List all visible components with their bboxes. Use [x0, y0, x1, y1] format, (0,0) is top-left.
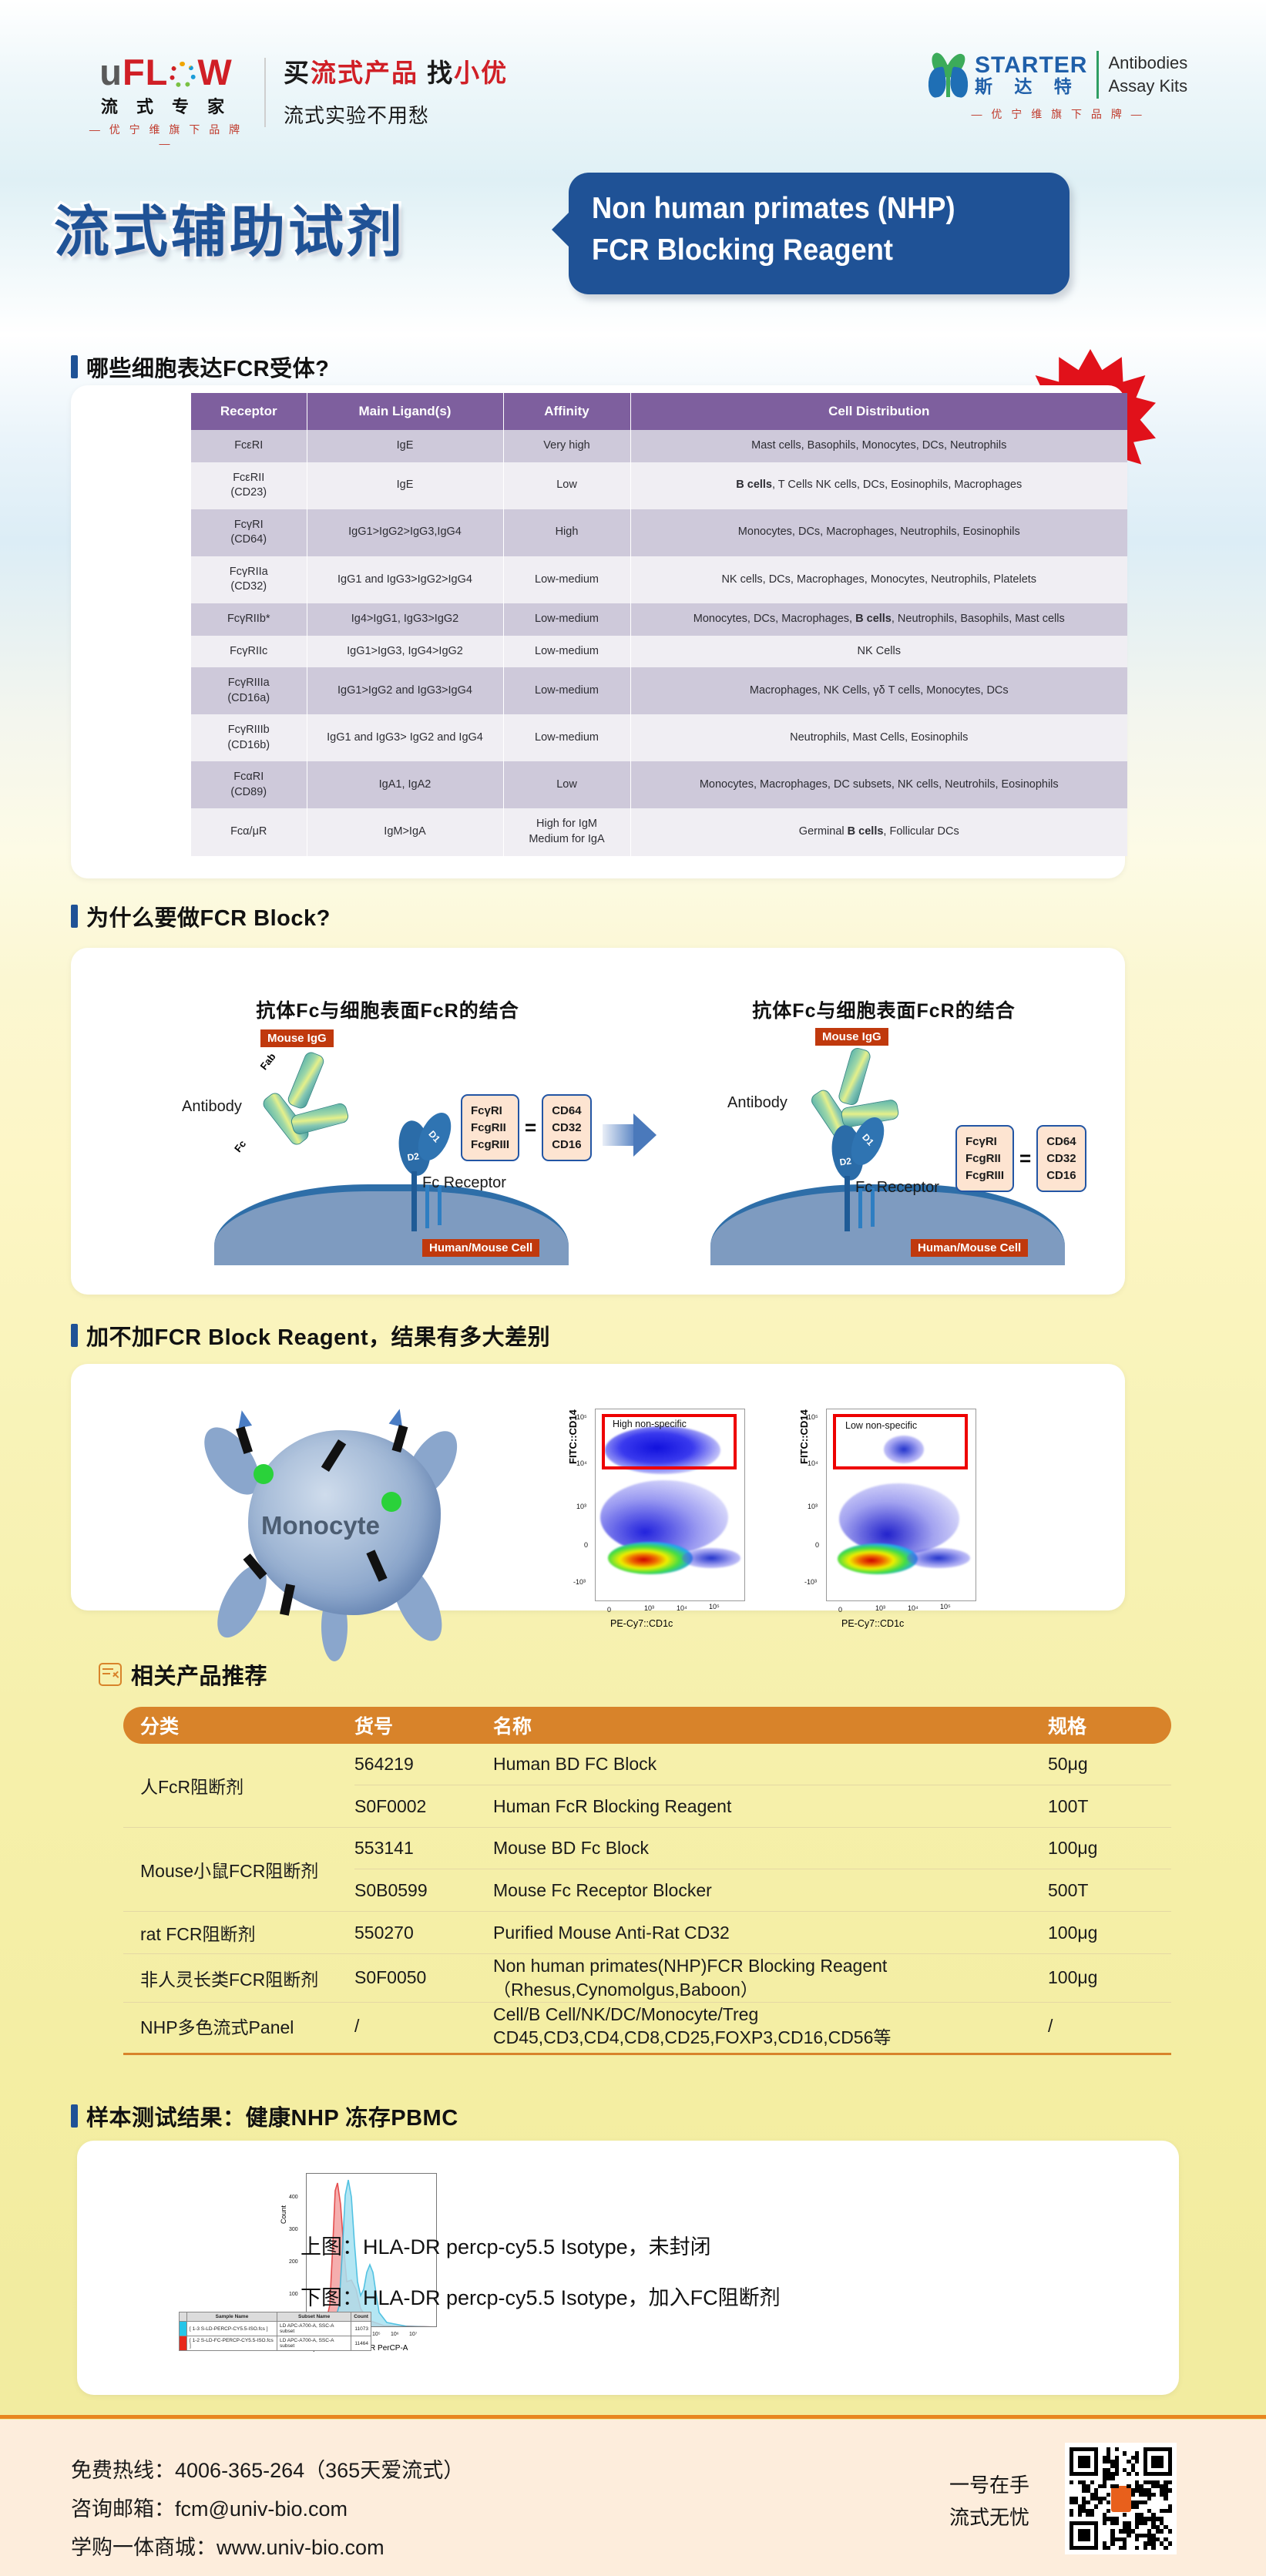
slogan-line-1: 买流式产品 找小优: [284, 52, 508, 89]
series-color-swatch: [180, 2322, 187, 2336]
footer-hotline: 免费热线：4006-365-264（365天爱流式）: [71, 2453, 464, 2484]
product-category: rat FCR阻断剂: [123, 1912, 354, 1953]
col-header-receptor: Receptor: [191, 393, 307, 430]
eq-l-0: FcγRI: [471, 1103, 509, 1120]
label-antibody-left: Antibody: [182, 1098, 242, 1116]
cell-affinity: High for IgMMedium for IgA: [503, 808, 630, 855]
cell-receptor: FcγRI(CD64): [191, 509, 307, 556]
product-name: Mouse BD Fc Block: [493, 1836, 1048, 1860]
receptor-stalk-left: [411, 1171, 417, 1231]
receptor-equivalence-left: FcγRI FcgRII FcgRIII = CD64 CD32 CD16: [461, 1094, 592, 1161]
eq-l-2: FcgRIII: [471, 1137, 509, 1154]
uflow-logo: uFLW 流 式 专 家 — 优 宁 维 旗 下 品 牌 —: [83, 54, 249, 149]
eq-left-box-l: FcγRI FcgRII FcgRIII: [461, 1094, 519, 1161]
cell-distribution: NK cells, DCs, Macrophages, Monocytes, N…: [630, 556, 1127, 603]
product-table-bottom-rule: [123, 2053, 1171, 2055]
product-items: 564219Human BD FC Block50μgS0F0002Human …: [354, 1744, 1171, 1827]
series-color-swatch: [180, 2336, 187, 2351]
cell-ligand: IgG1>IgG2>IgG3,IgG4: [307, 509, 503, 556]
qr-caption-line2: 流式无忧: [949, 2502, 1029, 2534]
label-fc-receptor-right: Fc Receptor: [855, 1179, 939, 1197]
tag-mouse-igg-left: Mouse IgG: [260, 1029, 334, 1047]
product-table: 分类 货号 名称 规格 人FcR阻断剂564219Human BD FC Blo…: [123, 1707, 1171, 2055]
section-heading-sample: 样本测试结果：健康NHP 冻存PBMC: [71, 2100, 458, 2132]
cell-receptor: FcεRII(CD23): [191, 462, 307, 509]
dotplot-1-ytick-1: 10⁴: [576, 1459, 587, 1467]
antibody-icon-2: [389, 1407, 407, 1427]
dotplot-2-xtick-0: 0: [838, 1606, 842, 1614]
antibody-icon-1: [235, 1409, 252, 1428]
cell-distribution: B cells, T Cells NK cells, DCs, Eosinoph…: [630, 462, 1127, 509]
mechanism-card: 抗体Fc与细胞表面FcR的结合 Mouse IgG Antibody Fab F…: [71, 948, 1125, 1295]
uflow-letters-fl: FL: [123, 54, 168, 90]
product-code: S0B0599: [354, 1879, 493, 1903]
product-name: Human BD FC Block: [493, 1752, 1048, 1776]
dotplot-high-nonspecific: FITC::CD14 High non-specific 10⁵ 10⁴ 10³…: [564, 1404, 753, 1635]
product-name: Purified Mouse Anti-Rat CD32: [493, 1921, 1048, 1945]
eq-left-box-r: FcγRI FcgRII FcgRIII: [955, 1125, 1014, 1192]
cell-affinity: High: [503, 509, 630, 556]
section-accent-bar: [71, 1324, 78, 1347]
table-row: FcγRIIcIgG1>IgG3, IgG4>IgG2Low-mediumNK …: [191, 636, 1127, 668]
cell-distribution: Monocytes, DCs, Macrophages, Neutrophils…: [630, 509, 1127, 556]
table-row[interactable]: /Cell/B Cell/NK/DC/Monocyte/Treg CD45,CD…: [354, 2003, 1171, 2050]
dotplot-2-xtick-2: 10⁴: [908, 1604, 918, 1612]
table-row: [ 1-3 S-LD-PERCP-CY5.5-ISO.fcs ]LD APC-A…: [180, 2322, 371, 2336]
product-col-category: 分类: [123, 1711, 354, 1739]
product-name: Non human primates(NHP)FCR Blocking Reag…: [493, 1954, 1048, 2002]
uflow-letter-w: W: [197, 54, 232, 90]
stats-subset-name: LD APC-A700-A, SSC-A subset: [277, 2322, 351, 2336]
product-spec: 500T: [1048, 1879, 1171, 1903]
cell-receptor: FcεRI: [191, 430, 307, 462]
cell-affinity: Low: [503, 761, 630, 808]
eq-right-box-l: CD64 CD32 CD16: [542, 1094, 591, 1161]
page-title-en: Non human primates (NHP) FCR Blocking Re…: [592, 188, 1022, 271]
cell-receptor: FcαRI(CD89): [191, 761, 307, 808]
eq-r-1: CD32: [1046, 1150, 1076, 1167]
label-fc-receptor-left: Fc Receptor: [422, 1174, 506, 1192]
table-row: FcγRI(CD64)IgG1>IgG2>IgG3,IgG4HighMonocy…: [191, 509, 1127, 556]
histogram-ytick-1: 300: [289, 2227, 298, 2232]
dotplot-2-frame: Low non-specific: [826, 1409, 976, 1601]
product-group: 人FcR阻断剂564219Human BD FC Block50μgS0F000…: [123, 1744, 1171, 1828]
dotplot-2-xlabel: PE-Cy7::CD1c: [841, 1618, 904, 1629]
cell-distribution: Mast cells, Basophils, Monocytes, DCs, N…: [630, 430, 1127, 462]
sample-note-2: 下图：HLA-DR percp-cy5.5 Isotype，加入FC阻断剂: [301, 2281, 781, 2311]
cell-receptor: Fcα/μR: [191, 808, 307, 855]
dotplot-1-gate-label: High non-specific: [613, 1419, 687, 1429]
starter-logo-row: STARTER 斯 达 特 Antibodies Assay Kits: [929, 51, 1187, 99]
cell-receptor: FcγRIIIb(CD16b): [191, 714, 307, 761]
monocyte-label: Monocyte: [261, 1511, 380, 1540]
table-row[interactable]: S0F0050Non human primates(NHP)FCR Blocki…: [354, 1954, 1171, 2002]
qr-center-logo: [1111, 2486, 1131, 2512]
product-spec: 100μg: [1048, 1836, 1171, 1860]
eq-r-0: CD64: [552, 1103, 581, 1120]
mechanism-panel-after: 抗体Fc与细胞表面FcR的结合 Mouse IgG Antibody D2 D1…: [664, 996, 1103, 1265]
cell-affinity: Low-medium: [503, 556, 630, 603]
starter-sub-assaykits: Assay Kits: [1108, 75, 1187, 98]
uflow-subtitle: 流 式 专 家: [83, 93, 249, 118]
slogan-line-2: 流式实验不用愁: [284, 100, 508, 129]
starter-name-cn: 斯 达 特: [975, 77, 1087, 96]
histogram-xtick-4: 10⁶: [391, 2332, 399, 2337]
dotplot-1-ytick-4: -10³: [573, 1578, 586, 1586]
dotplot-1-ytick-3: 0: [584, 1541, 588, 1549]
table-row: FcεRIIgEVery highMast cells, Basophils, …: [191, 430, 1127, 462]
antibody-stem-2: [392, 1425, 408, 1453]
antibody-molecule-left: [267, 1053, 367, 1154]
cell-affinity: Low: [503, 462, 630, 509]
col-header-distribution: Cell Distribution: [630, 393, 1127, 430]
slogan-word-xiaoyou: 小优: [454, 59, 508, 87]
footer-email: 咨询邮箱：fcm@univ-bio.com: [71, 2492, 348, 2522]
table-row: Fcα/μRIgM>IgAHigh for IgMMedium for IgAG…: [191, 808, 1127, 855]
title-banner: 流式辅助试剂 Non human primates (NHP) FCR Bloc…: [0, 162, 1266, 324]
product-name: Human FcR Blocking Reagent: [493, 1795, 1048, 1819]
histogram-stats-table: Sample Name Subset Name Count [ 1-3 S-LD…: [179, 2312, 371, 2351]
dotplot-1-xtick-2: 10⁴: [677, 1604, 687, 1612]
cell-receptor: FcγRIIa(CD32): [191, 556, 307, 603]
dotplot-1-ytick-2: 10³: [576, 1503, 586, 1510]
product-code: 564219: [354, 1752, 493, 1776]
section-heading-products: 相关产品推荐: [99, 1658, 267, 1691]
cell-distribution: Macrophages, NK Cells, γδ T cells, Monoc…: [630, 667, 1127, 714]
stats-sample-name: [ 1-2 S-LD-FC-PERCP-CY5.5-ISO.fcs ]: [187, 2336, 277, 2351]
dotplot-2-ytick-0: 10⁵: [808, 1413, 818, 1421]
mechanism-panel-before: 抗体Fc与细胞表面FcR的结合 Mouse IgG Antibody Fab F…: [168, 996, 607, 1265]
stats-sample-name: [ 1-3 S-LD-PERCP-CY5.5-ISO.fcs ]: [187, 2322, 277, 2336]
slogan-word-find: 找: [418, 59, 454, 87]
histogram-ytick-2: 200: [289, 2259, 298, 2265]
fcr-marker-2: [381, 1492, 401, 1512]
uflow-wordmark: uFLW: [83, 54, 249, 90]
receptor-table: Receptor Main Ligand(s) Affinity Cell Di…: [191, 393, 1127, 856]
dotplot-2-xtick-1: 10³: [875, 1604, 885, 1612]
product-col-name: 名称: [493, 1711, 1048, 1739]
eq-l-2: FcgRIII: [965, 1167, 1004, 1184]
dotplot-2-ytick-2: 10³: [808, 1503, 818, 1510]
eq-r-2: CD16: [552, 1137, 581, 1154]
qr-caption: 一号在手 流式无忧: [949, 2470, 1029, 2534]
product-items: 550270Purified Mouse Anti-Rat CD32100μg: [354, 1912, 1171, 1953]
col-header-ligand: Main Ligand(s): [307, 393, 503, 430]
table-row[interactable]: S0F0002Human FcR Blocking Reagent100T: [354, 1785, 1171, 1827]
receptor-equivalence-right: FcγRI FcgRII FcgRIII = CD64 CD32 CD16: [955, 1125, 1086, 1192]
label-d1-right: D1: [860, 1132, 876, 1148]
page-header: uFLW 流 式 专 家 — 优 宁 维 旗 下 品 牌 — 买流式产品 找小优…: [0, 0, 1266, 162]
cell-affinity: Low-medium: [503, 667, 630, 714]
stats-col-swatch: [180, 2312, 187, 2322]
starter-name-block: STARTER 斯 达 特: [975, 53, 1087, 97]
cell-distribution: Monocytes, DCs, Macrophages, B cells, Ne…: [630, 603, 1127, 636]
section-title-comparison: 加不加FCR Block Reagent，结果有多大差别: [86, 1319, 550, 1352]
histogram-ylabel: Count: [280, 2205, 287, 2224]
product-group: NHP多色流式Panel/Cell/B Cell/NK/DC/Monocyte/…: [123, 2003, 1171, 2050]
cell-ligand: IgG1>IgG2 and IgG3>IgG4: [307, 667, 503, 714]
label-d1-left: D1: [426, 1128, 442, 1144]
qr-code[interactable]: [1065, 2443, 1177, 2554]
histogram-ytick-0: 400: [289, 2195, 298, 2200]
cell-receptor: FcγRIIb*: [191, 603, 307, 636]
receptor-table-header-row: Receptor Main Ligand(s) Affinity Cell Di…: [191, 393, 1127, 430]
cell-distribution: Neutrophils, Mast Cells, Eosinophils: [630, 714, 1127, 761]
dotplot-low-nonspecific: FITC::CD14 Low non-specific 10⁵ 10⁴ 10³ …: [795, 1404, 984, 1635]
tag-human-mouse-cell-right: Human/Mouse Cell: [911, 1239, 1028, 1257]
product-spec: 100μg: [1048, 1966, 1171, 1990]
dotplot-1-frame: High non-specific: [595, 1409, 745, 1601]
table-row[interactable]: 550270Purified Mouse Anti-Rat CD32100μg: [354, 1912, 1171, 1953]
cell-receptor: FcγRIIc: [191, 636, 307, 668]
cell-distribution: Monocytes, Macrophages, DC subsets, NK c…: [630, 761, 1127, 808]
header-divider: [264, 58, 266, 127]
histogram-xtick-3: 10⁵: [372, 2332, 381, 2337]
section-title-why-block: 为什么要做FCR Block?: [86, 900, 331, 932]
product-group: 非人灵长类FCR阻断剂S0F0050Non human primates(NHP…: [123, 1954, 1171, 2003]
eq-right-box-r: CD64 CD32 CD16: [1036, 1125, 1086, 1192]
cell-distribution: NK Cells: [630, 636, 1127, 668]
transition-arrow-icon: [603, 1113, 657, 1157]
label-d2-left: D2: [407, 1150, 420, 1163]
section-title-products: 相关产品推荐: [131, 1658, 267, 1691]
dotplot-1-xlabel: PE-Cy7::CD1c: [610, 1618, 673, 1629]
product-category: 人FcR阻断剂: [123, 1744, 354, 1827]
product-category: Mouse小鼠FCR阻断剂: [123, 1828, 354, 1911]
table-row[interactable]: 553141Mouse BD Fc Block100μg: [354, 1828, 1171, 1869]
table-row: FcγRIIa(CD32)IgG1 and IgG3>IgG2>IgG4Low-…: [191, 556, 1127, 603]
table-row[interactable]: S0B0599Mouse Fc Receptor Blocker500T: [354, 1869, 1171, 1911]
label-fc-left: Fc: [232, 1138, 248, 1154]
comparison-card: Monocyte FITC::CD14 High non-specific: [71, 1364, 1125, 1610]
product-col-spec: 规格: [1048, 1711, 1171, 1739]
product-spec: 100μg: [1048, 1921, 1171, 1945]
dotplot-1-xtick-3: 10⁵: [709, 1603, 720, 1610]
product-items: S0F0050Non human primates(NHP)FCR Blocki…: [354, 1954, 1171, 2002]
section-title-receptors: 哪些细胞表达FCR受体?: [86, 351, 329, 383]
table-row: FcαRI(CD89)IgA1, IgA2LowMonocytes, Macro…: [191, 761, 1127, 808]
starter-brand-line: — 优 宁 维 旗 下 品 牌 —: [929, 106, 1187, 122]
label-antibody-right: Antibody: [727, 1094, 787, 1112]
cell-ligand: Ig4>IgG1, IgG3>IgG2: [307, 603, 503, 636]
section-heading-comparison: 加不加FCR Block Reagent，结果有多大差别: [71, 1319, 550, 1352]
cell-affinity: Low-medium: [503, 636, 630, 668]
histogram-stats-header-row: Sample Name Subset Name Count: [180, 2312, 371, 2322]
uflow-brand-line: — 优 宁 维 旗 下 品 牌 —: [83, 122, 249, 149]
cell-ligand: IgG1 and IgG3>IgG2>IgG4: [307, 556, 503, 603]
starter-logo: STARTER 斯 达 特 Antibodies Assay Kits — 优 …: [929, 51, 1187, 122]
cell-ligand: IgE: [307, 430, 503, 462]
page-title-en-line2: FCR Blocking Reagent: [592, 230, 1022, 271]
tag-mouse-igg-right: Mouse IgG: [815, 1028, 888, 1046]
stats-subset-name: LD APC-A700-A, SSC-A subset: [277, 2336, 351, 2351]
product-table-header: 分类 货号 名称 规格: [123, 1707, 1171, 1744]
cell-receptor: FcγRIIIa(CD16a): [191, 667, 307, 714]
table-row: FcγRIIIb(CD16b)IgG1 and IgG3> IgG2 and I…: [191, 714, 1127, 761]
qr-caption-line1: 一号在手: [949, 2470, 1029, 2502]
eq-sign-right: =: [1019, 1147, 1031, 1170]
cell-affinity: Low-medium: [503, 714, 630, 761]
section-accent-bar: [71, 2104, 78, 2128]
header-slogan: 买流式产品 找小优 流式实验不用愁: [284, 52, 508, 129]
histogram-xtick-5: 10⁷: [409, 2332, 417, 2337]
product-items: 553141Mouse BD Fc Block100μgS0B0599Mouse…: [354, 1828, 1171, 1911]
eq-r-0: CD64: [1046, 1134, 1076, 1150]
section-heading-why-block: 为什么要做FCR Block?: [71, 900, 331, 932]
product-items: /Cell/B Cell/NK/DC/Monocyte/Treg CD45,CD…: [354, 2003, 1171, 2050]
mechanism-panel-title-left: 抗体Fc与细胞表面FcR的结合: [168, 996, 607, 1023]
eq-l-1: FcgRII: [965, 1150, 1004, 1167]
receptor-stalk-right: [845, 1176, 850, 1231]
stats-col-subset: Subset Name: [277, 2312, 351, 2322]
cell-ligand: IgE: [307, 462, 503, 509]
footer-website: 学购一体商城：www.univ-bio.com: [71, 2531, 385, 2561]
title-callout-box: Non human primates (NHP) FCR Blocking Re…: [569, 173, 1070, 294]
eq-l-1: FcgRII: [471, 1120, 509, 1137]
box-check-icon: [99, 1663, 122, 1686]
dotplot-1-xtick-0: 0: [607, 1606, 611, 1614]
footer-top-rule: [0, 2415, 1266, 2419]
dotplot-1-xtick-1: 10³: [644, 1604, 654, 1612]
product-category: 非人灵长类FCR阻断剂: [123, 1954, 354, 2002]
product-group: rat FCR阻断剂550270Purified Mouse Anti-Rat …: [123, 1912, 1171, 1954]
dotplot-2-ytick-3: 0: [815, 1541, 819, 1549]
col-header-affinity: Affinity: [503, 393, 630, 430]
slogan-word-flow-products: 流式产品: [311, 59, 418, 87]
section-accent-bar: [71, 905, 78, 928]
label-d2-right: D2: [839, 1155, 852, 1167]
cell-ligand: IgM>IgA: [307, 808, 503, 855]
starter-vertical-rule: [1096, 51, 1099, 99]
dotplot-2-ytick-4: -10³: [804, 1578, 817, 1586]
mechanism-panel-title-right: 抗体Fc与细胞表面FcR的结合: [664, 996, 1103, 1023]
product-table-body: 人FcR阻断剂564219Human BD FC Block50μgS0F000…: [123, 1744, 1171, 2050]
monocyte-illustration: Monocyte: [206, 1399, 491, 1654]
starter-subtitles: Antibodies Assay Kits: [1108, 52, 1187, 97]
table-row[interactable]: 564219Human BD FC Block50μg: [354, 1744, 1171, 1785]
stats-count: 11464: [351, 2336, 371, 2351]
table-row: FcεRII(CD23)IgELowB cells, T Cells NK ce…: [191, 462, 1127, 509]
uflow-letter-u: u: [99, 54, 123, 90]
sample-note-1: 上图：HLA-DR percp-cy5.5 Isotype，未封闭: [301, 2230, 711, 2260]
stats-col-count: Count: [351, 2312, 371, 2322]
stats-col-sample: Sample Name: [187, 2312, 277, 2322]
stats-count: 11073: [351, 2322, 371, 2336]
eq-sign-left: =: [525, 1116, 536, 1140]
eq-r-1: CD32: [552, 1120, 581, 1137]
product-code: 550270: [354, 1921, 493, 1945]
section-title-sample: 样本测试结果：健康NHP 冻存PBMC: [86, 2100, 458, 2132]
product-code: S0F0002: [354, 1795, 493, 1819]
starter-name-en: STARTER: [975, 53, 1087, 78]
dotplot-1-ytick-0: 10⁵: [576, 1413, 587, 1421]
slogan-word-buy: 买: [284, 59, 311, 87]
page-title-en-line1: Non human primates (NHP): [592, 188, 1022, 230]
product-code: 553141: [354, 1836, 493, 1860]
product-code: /: [354, 2014, 493, 2038]
dotplot-2-xtick-3: 10⁵: [940, 1603, 951, 1610]
product-col-code: 货号: [354, 1711, 493, 1739]
product-code: S0F0050: [354, 1966, 493, 1990]
section-heading-receptors: 哪些细胞表达FCR受体?: [71, 351, 329, 383]
table-row: FcγRIIb*Ig4>IgG1, IgG3>IgG2Low-mediumMon…: [191, 603, 1127, 636]
sprout-icon: [929, 51, 969, 99]
cell-ligand: IgG1>IgG3, IgG4>IgG2: [307, 636, 503, 668]
histogram-ytick-3: 100: [289, 2292, 298, 2297]
uflow-ring-icon: [170, 62, 196, 88]
cell-ligand: IgA1, IgA2: [307, 761, 503, 808]
table-row: FcγRIIIa(CD16a)IgG1>IgG2 and IgG3>IgG4Lo…: [191, 667, 1127, 714]
product-category: NHP多色流式Panel: [123, 2003, 354, 2050]
product-spec: 50μg: [1048, 1752, 1171, 1776]
qr-code-pattern: [1070, 2447, 1172, 2550]
product-spec: 100T: [1048, 1795, 1171, 1819]
cell-distribution: Germinal B cells, Follicular DCs: [630, 808, 1127, 855]
product-spec: /: [1048, 2014, 1171, 2038]
tag-human-mouse-cell-left: Human/Mouse Cell: [422, 1239, 539, 1257]
eq-l-0: FcγRI: [965, 1134, 1004, 1150]
product-name: Mouse Fc Receptor Blocker: [493, 1879, 1048, 1903]
section-accent-bar: [71, 355, 78, 378]
dotplot-2-gate-label: Low non-specific: [845, 1420, 917, 1431]
page-title-cn: 流式辅助试剂: [54, 186, 405, 267]
fcr-marker-1: [254, 1464, 274, 1484]
poster-page: uFLW 流 式 专 家 — 优 宁 维 旗 下 品 牌 — 买流式产品 找小优…: [0, 0, 1266, 2576]
product-group: Mouse小鼠FCR阻断剂553141Mouse BD Fc Block100μ…: [123, 1828, 1171, 1912]
cell-affinity: Very high: [503, 430, 630, 462]
cell-ligand: IgG1 and IgG3> IgG2 and IgG4: [307, 714, 503, 761]
dotplot-2-ytick-1: 10⁴: [808, 1459, 818, 1467]
product-name: Cell/B Cell/NK/DC/Monocyte/Treg CD45,CD3…: [493, 2003, 1048, 2050]
sample-result-card: Count 400 300 200 100 0 0 10³ 10⁴ 10⁵ 10…: [77, 2141, 1179, 2395]
eq-r-2: CD16: [1046, 1167, 1076, 1184]
starter-sub-antibodies: Antibodies: [1108, 52, 1187, 75]
cell-affinity: Low-medium: [503, 603, 630, 636]
table-row: [ 1-2 S-LD-FC-PERCP-CY5.5-ISO.fcs ]LD AP…: [180, 2336, 371, 2351]
